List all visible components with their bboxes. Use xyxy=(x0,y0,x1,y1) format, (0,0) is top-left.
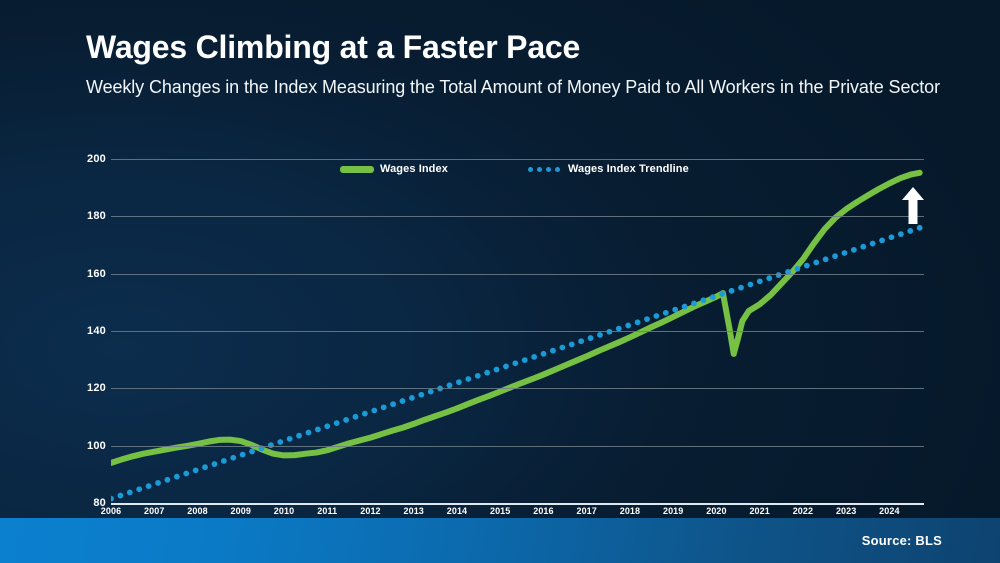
trendline-dot xyxy=(917,225,923,231)
x-axis-tick-label: 2011 xyxy=(317,506,337,516)
trendline-dot xyxy=(898,231,904,237)
chart-container: 80100120140160180200 2006200720082009201… xyxy=(0,148,1000,516)
trendline-dot xyxy=(371,408,377,414)
trendline-dot xyxy=(860,244,866,250)
trendline-dot xyxy=(362,411,368,417)
x-axis-tick-label: 2013 xyxy=(403,506,423,516)
legend-label-wages-index: Wages Index xyxy=(380,163,448,175)
trendline-dot xyxy=(230,455,236,461)
trendline-dot xyxy=(738,285,744,291)
trendline-dot xyxy=(315,427,321,433)
trendline-dot xyxy=(653,313,659,319)
x-axis-tick-label: 2012 xyxy=(360,506,380,516)
x-axis-tick-label: 2007 xyxy=(144,506,164,516)
gridline xyxy=(111,331,924,332)
legend-swatch-dotted-icon xyxy=(528,167,562,172)
y-axis-tick-label: 160 xyxy=(72,268,106,280)
up-arrow-icon xyxy=(902,187,924,224)
trendline-dot xyxy=(701,297,707,303)
gridline xyxy=(111,216,924,217)
trendline-dot xyxy=(813,260,819,266)
trendline-dot xyxy=(541,351,547,357)
trendline-dot xyxy=(522,357,528,363)
trendline-dot xyxy=(559,345,565,351)
trendline-dot xyxy=(409,395,415,401)
legend-label-wages-index-trendline: Wages Index Trendline xyxy=(568,163,689,175)
page-title: Wages Climbing at a Faster Pace xyxy=(86,30,966,65)
trendline-dot xyxy=(879,238,885,244)
trendline-dot xyxy=(353,414,359,420)
trendline-dot xyxy=(212,461,218,467)
trendline-dot xyxy=(447,382,453,388)
trendline-dot xyxy=(795,266,801,272)
trendline-dot xyxy=(111,496,114,502)
trendline-dot xyxy=(569,341,575,347)
trendline-dot xyxy=(691,301,697,307)
trendline-dot xyxy=(334,420,340,426)
y-axis-tick-label: 140 xyxy=(72,325,106,337)
x-axis-tick-label: 2015 xyxy=(490,506,510,516)
trendline-dot xyxy=(748,282,754,288)
trendline-dot xyxy=(400,398,406,404)
x-axis-tick-label: 2016 xyxy=(533,506,553,516)
trendline-dot xyxy=(588,335,594,341)
trendline-dot xyxy=(324,423,330,429)
trendline-dot xyxy=(390,401,396,407)
page-subtitle: Weekly Changes in the Index Measuring th… xyxy=(86,76,966,100)
trendline-dot xyxy=(465,376,471,382)
trendline-dot xyxy=(428,389,434,395)
trendline-dot xyxy=(381,404,387,410)
legend-item-wages-index: Wages Index xyxy=(340,163,448,175)
trendline-dot xyxy=(221,458,227,464)
trendline-dot xyxy=(644,316,650,322)
trendline-dot xyxy=(240,452,246,458)
gridline xyxy=(111,274,924,275)
trendline-dot xyxy=(635,319,641,325)
trendline-dot xyxy=(842,250,848,256)
x-axis-tick-label: 2024 xyxy=(879,506,899,516)
trendline-dot xyxy=(287,436,293,442)
x-axis-tick-label: 2017 xyxy=(576,506,596,516)
trendline-dot xyxy=(174,474,180,480)
trendline-dot xyxy=(907,228,913,234)
axis-baseline xyxy=(111,503,924,505)
trendline-dot xyxy=(512,360,518,366)
trendline-dot xyxy=(832,253,838,259)
trendline-dot xyxy=(804,263,810,269)
trendline-dot xyxy=(550,348,556,354)
trendline-dot xyxy=(823,256,829,262)
x-axis-tick-label: 2010 xyxy=(274,506,294,516)
trendline-dot xyxy=(625,323,631,329)
trendline-dot xyxy=(578,338,584,344)
plot-area xyxy=(111,159,924,503)
slide-canvas: Wages Climbing at a Faster Pace Weekly C… xyxy=(0,0,1000,563)
trendline-dot xyxy=(118,493,124,499)
y-axis-tick-label: 200 xyxy=(72,153,106,165)
trendline-dot xyxy=(418,392,424,398)
trendline-dot xyxy=(249,449,255,455)
trendline-dot xyxy=(682,304,688,310)
gridline xyxy=(111,159,924,160)
y-axis: 80100120140160180200 xyxy=(66,159,106,503)
trendline-dot xyxy=(136,486,142,492)
legend-item-wages-index-trendline: Wages Index Trendline xyxy=(528,163,689,175)
trendline-dot xyxy=(155,480,161,486)
trendline-dot xyxy=(503,364,509,370)
gridline xyxy=(111,446,924,447)
trendline-dot xyxy=(494,367,500,373)
x-axis-tick-label: 2019 xyxy=(663,506,683,516)
x-axis-tick-label: 2018 xyxy=(620,506,640,516)
trendline-dot xyxy=(710,294,716,300)
y-axis-tick-label: 180 xyxy=(72,210,106,222)
x-axis-tick-label: 2008 xyxy=(187,506,207,516)
trendline-dot xyxy=(306,430,312,436)
trendline-dot xyxy=(475,373,481,379)
x-axis-tick-label: 2014 xyxy=(447,506,467,516)
y-axis-tick-label: 120 xyxy=(72,382,106,394)
trendline-dot xyxy=(729,288,735,294)
x-axis-tick-label: 2009 xyxy=(231,506,251,516)
trendline-dot xyxy=(719,291,725,297)
trendline-dot xyxy=(183,471,189,477)
legend-swatch-solid-icon xyxy=(340,166,374,173)
trendline-dot xyxy=(127,490,133,496)
trendline-dot xyxy=(531,354,537,360)
footer-bar: Source: BLS xyxy=(0,518,1000,563)
trendline-dot xyxy=(663,310,669,316)
trendline-dot xyxy=(202,464,208,470)
trendline-dot xyxy=(343,417,349,423)
trendline-dot xyxy=(456,379,462,385)
chart-legend: Wages Index Wages Index Trendline xyxy=(340,163,689,175)
trendline-dot xyxy=(484,370,490,376)
x-axis-tick-label: 2023 xyxy=(836,506,856,516)
x-axis-tick-label: 2020 xyxy=(706,506,726,516)
trendline-dot xyxy=(889,234,895,240)
y-axis-tick-label: 100 xyxy=(72,440,106,452)
header-block: Wages Climbing at a Faster Pace Weekly C… xyxy=(86,30,966,100)
x-axis-tick-label: 2021 xyxy=(749,506,769,516)
trendline-dot xyxy=(851,247,857,253)
trendline-dot xyxy=(597,332,603,338)
trendline-dot xyxy=(277,439,283,445)
trendline-dot xyxy=(766,275,772,281)
trendline-dot xyxy=(757,278,763,284)
x-axis-tick-label: 2006 xyxy=(101,506,121,516)
trendline-dot xyxy=(672,307,678,313)
trendline-dot xyxy=(193,467,199,473)
source-label: Source: BLS xyxy=(862,533,942,548)
trendline-dot xyxy=(870,241,876,247)
gridline xyxy=(111,388,924,389)
x-axis-tick-label: 2022 xyxy=(793,506,813,516)
trendline-dot xyxy=(146,483,152,489)
trendline-dot xyxy=(296,433,302,439)
trendline-dot xyxy=(165,477,171,483)
